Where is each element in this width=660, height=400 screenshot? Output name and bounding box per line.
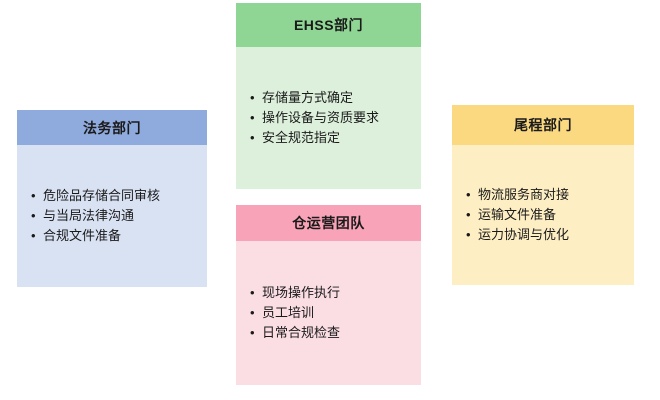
- list-item-label: 日常合规检查: [262, 323, 411, 343]
- card-ehss-bullet-list: • 存储量方式确定 • 操作设备与资质要求 • 安全规范指定: [250, 88, 411, 148]
- bullet-dot-icon: •: [31, 206, 43, 226]
- list-item-label: 操作设备与资质要求: [262, 108, 411, 128]
- bullet-dot-icon: •: [31, 226, 43, 246]
- list-item-label: 合规文件准备: [43, 226, 197, 246]
- card-ehss-header: EHSS部门: [236, 3, 421, 47]
- card-lastmile-header: 尾程部门: [452, 105, 634, 145]
- bullet-dot-icon: •: [31, 186, 43, 206]
- list-item: • 日常合规检查: [250, 323, 411, 343]
- bullet-dot-icon: •: [250, 323, 262, 343]
- bullet-dot-icon: •: [250, 303, 262, 323]
- list-item: • 危险品存储合同审核: [31, 186, 197, 206]
- bullet-dot-icon: •: [250, 108, 262, 128]
- card-lastmile-bullet-list: • 物流服务商对接 • 运输文件准备 • 运力协调与优化: [466, 185, 624, 245]
- card-warehouse-bullet-list: • 现场操作执行 • 员工培训 • 日常合规检查: [250, 283, 411, 343]
- list-item-label: 与当局法律沟通: [43, 206, 197, 226]
- bullet-dot-icon: •: [250, 283, 262, 303]
- card-lastmile-title: 尾程部门: [514, 115, 572, 135]
- bullet-dot-icon: •: [466, 185, 478, 205]
- card-legal-bullet-list: • 危险品存储合同审核 • 与当局法律沟通 • 合规文件准备: [31, 186, 197, 246]
- bullet-dot-icon: •: [466, 205, 478, 225]
- card-warehouse-title: 仓运营团队: [292, 213, 365, 233]
- card-ehss-department[interactable]: EHSS部门 • 存储量方式确定 • 操作设备与资质要求 • 安全规范指定: [236, 3, 421, 189]
- list-item: • 与当局法律沟通: [31, 206, 197, 226]
- card-ehss-body: • 存储量方式确定 • 操作设备与资质要求 • 安全规范指定: [236, 47, 421, 189]
- card-ehss-title: EHSS部门: [294, 15, 363, 35]
- list-item: • 物流服务商对接: [466, 185, 624, 205]
- card-warehouse-header: 仓运营团队: [236, 205, 421, 241]
- list-item: • 存储量方式确定: [250, 88, 411, 108]
- list-item: • 运输文件准备: [466, 205, 624, 225]
- card-lastmile-department[interactable]: 尾程部门 • 物流服务商对接 • 运输文件准备 • 运力协调与优化: [452, 105, 634, 285]
- card-lastmile-body: • 物流服务商对接 • 运输文件准备 • 运力协调与优化: [452, 145, 634, 285]
- list-item: • 现场操作执行: [250, 283, 411, 303]
- list-item-label: 安全规范指定: [262, 128, 411, 148]
- bullet-dot-icon: •: [250, 128, 262, 148]
- list-item: • 员工培训: [250, 303, 411, 323]
- bullet-dot-icon: •: [250, 88, 262, 108]
- list-item-label: 现场操作执行: [262, 283, 411, 303]
- list-item: • 合规文件准备: [31, 226, 197, 246]
- diagram-canvas: 法务部门 • 危险品存储合同审核 • 与当局法律沟通 • 合规文件准备: [0, 0, 660, 400]
- card-warehouse-body: • 现场操作执行 • 员工培训 • 日常合规检查: [236, 241, 421, 385]
- card-legal-header: 法务部门: [17, 110, 207, 145]
- list-item: • 操作设备与资质要求: [250, 108, 411, 128]
- list-item-label: 物流服务商对接: [478, 185, 624, 205]
- list-item: • 安全规范指定: [250, 128, 411, 148]
- card-legal-department[interactable]: 法务部门 • 危险品存储合同审核 • 与当局法律沟通 • 合规文件准备: [17, 110, 207, 287]
- card-warehouse-operations-team[interactable]: 仓运营团队 • 现场操作执行 • 员工培训 • 日常合规检查: [236, 205, 421, 385]
- card-legal-title: 法务部门: [83, 118, 141, 138]
- list-item-label: 员工培训: [262, 303, 411, 323]
- list-item-label: 危险品存储合同审核: [43, 186, 197, 206]
- bullet-dot-icon: •: [466, 225, 478, 245]
- list-item-label: 存储量方式确定: [262, 88, 411, 108]
- list-item-label: 运输文件准备: [478, 205, 624, 225]
- list-item: • 运力协调与优化: [466, 225, 624, 245]
- card-legal-body: • 危险品存储合同审核 • 与当局法律沟通 • 合规文件准备: [17, 145, 207, 287]
- list-item-label: 运力协调与优化: [478, 225, 624, 245]
